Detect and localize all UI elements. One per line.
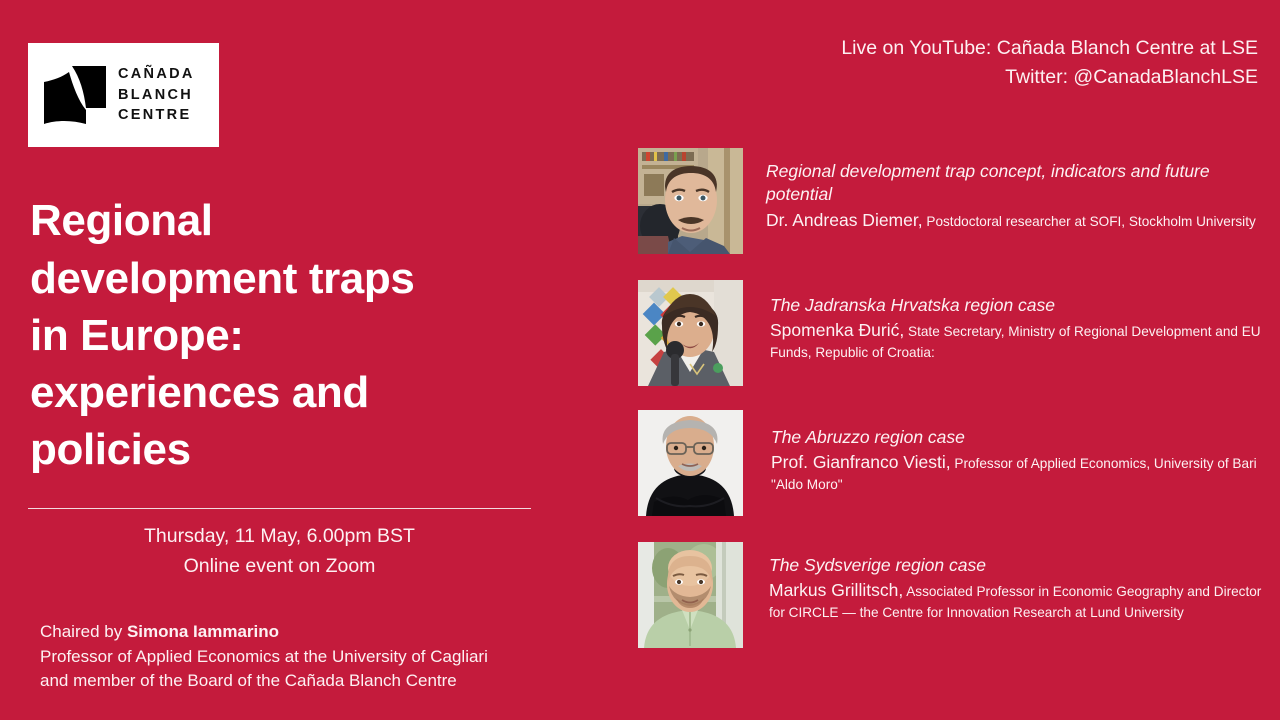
speaker-topic: The Sydsverige region case: [769, 554, 1266, 577]
speaker-credentials: Markus Grillitsch, Associated Professor …: [769, 579, 1266, 624]
youtube-line: Live on YouTube: Cañada Blanch Centre at…: [841, 34, 1258, 63]
speaker-topic: Regional development trap concept, indic…: [766, 160, 1266, 207]
speaker-item: The Abruzzo region case Prof. Gianfranco…: [638, 410, 1266, 516]
portrait-spomenka-djuric-icon: [638, 280, 743, 386]
event-poster: CAÑADA BLANCH CENTRE Live on YouTube: Ca…: [0, 0, 1280, 720]
title-line-5: policies: [30, 421, 575, 478]
logo-word-canada: CAÑADA: [118, 64, 195, 85]
speaker-text-3: The Abruzzo region case Prof. Gianfranco…: [771, 410, 1266, 496]
speaker-list: Regional development trap concept, indic…: [638, 148, 1266, 674]
speaker-credentials: Dr. Andreas Diemer, Postdoctoral researc…: [766, 209, 1266, 233]
title-line-3: in Europe:: [30, 307, 575, 364]
title-divider: [28, 508, 531, 509]
speaker-role: Postdoctoral researcher at SOFI, Stockho…: [923, 214, 1256, 229]
chair-block: Chaired by Simona Iammarino Professor of…: [40, 620, 600, 694]
chair-name: Simona Iammarino: [127, 622, 279, 641]
chair-line-2: Professor of Applied Economics at the Un…: [40, 645, 600, 670]
portrait-andreas-diemer-icon: [638, 148, 743, 254]
logo-mark-icon: [42, 64, 108, 126]
chair-line-3: and member of the Board of the Cañada Bl…: [40, 669, 600, 694]
speaker-credentials: Prof. Gianfranco Viesti, Professor of Ap…: [771, 451, 1266, 496]
speaker-topic: The Jadranska Hrvatska region case: [770, 294, 1266, 317]
twitter-line: Twitter: @CanadaBlanchLSE: [841, 63, 1258, 92]
logo-word-blanch: BLANCH: [118, 85, 195, 106]
canada-blanch-centre-logo: CAÑADA BLANCH CENTRE: [28, 43, 219, 147]
title-line-4: experiences and: [30, 364, 575, 421]
speaker-photo-1: [638, 148, 743, 254]
speaker-item: Regional development trap concept, indic…: [638, 148, 1266, 254]
speaker-name: Dr. Andreas Diemer,: [766, 210, 923, 230]
chair-prefix: Chaired by: [40, 622, 127, 641]
event-datetime: Thursday, 11 May, 6.00pm BST: [28, 522, 531, 552]
speaker-item: The Jadranska Hrvatska region case Spome…: [638, 280, 1266, 386]
title-line-2: development traps: [30, 250, 575, 307]
speaker-text-1: Regional development trap concept, indic…: [766, 148, 1266, 233]
logo-word-centre: CENTRE: [118, 105, 195, 126]
portrait-markus-grillitsch-icon: [638, 542, 743, 648]
speaker-item: The Sydsverige region case Markus Grilli…: [638, 542, 1266, 648]
stream-contact-info: Live on YouTube: Cañada Blanch Centre at…: [841, 34, 1258, 91]
event-details: Thursday, 11 May, 6.00pm BST Online even…: [28, 522, 531, 581]
portrait-gianfranco-viesti-icon: [638, 410, 743, 516]
speaker-photo-2: [638, 280, 743, 386]
speaker-name: Markus Grillitsch,: [769, 580, 903, 600]
speaker-name: Prof. Gianfranco Viesti,: [771, 452, 951, 472]
speaker-photo-3: [638, 410, 743, 516]
speaker-text-4: The Sydsverige region case Markus Grilli…: [769, 542, 1266, 624]
logo-wordmark: CAÑADA BLANCH CENTRE: [118, 64, 195, 126]
speaker-text-2: The Jadranska Hrvatska region case Spome…: [770, 280, 1266, 364]
event-format: Online event on Zoom: [28, 552, 531, 582]
speaker-name: Spomenka Đurić,: [770, 320, 904, 340]
title-line-1: Regional: [30, 192, 575, 249]
speaker-topic: The Abruzzo region case: [771, 426, 1266, 449]
chair-line-1: Chaired by Simona Iammarino: [40, 620, 600, 645]
speaker-credentials: Spomenka Đurić, State Secretary, Ministr…: [770, 319, 1266, 364]
event-title: Regional development traps in Europe: ex…: [30, 192, 575, 478]
speaker-photo-4: [638, 542, 743, 648]
